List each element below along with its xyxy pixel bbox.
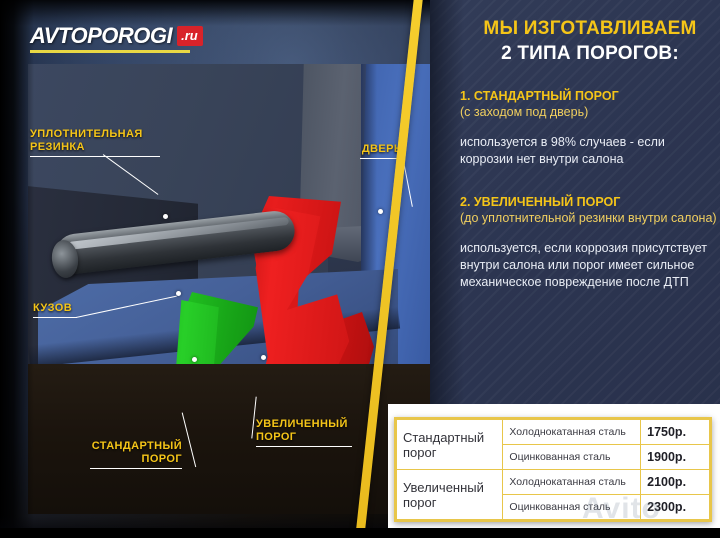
cell-price: 2300р. (641, 495, 710, 520)
label-extended-sill: УВЕЛИЧЕННЫЙ ПОРОГ (256, 418, 352, 447)
cell-material: Холоднокатанная сталь (503, 420, 641, 445)
price-table: Стандартный порог Холоднокатанная сталь … (394, 417, 712, 522)
page-title-line2: 2 ТИПА ПОРОГОВ: (460, 41, 720, 66)
bottom-bar (0, 528, 720, 538)
table-row: Стандартный порог Холоднокатанная сталь … (397, 420, 710, 445)
price-table-body: Стандартный порог Холоднокатанная сталь … (397, 420, 710, 520)
label-rubber-seal-line1: УПЛОТНИТЕЛЬНАЯ (30, 128, 143, 140)
label-extended-sill-line2: ПОРОГ (256, 431, 296, 443)
label-rubber-seal: УПЛОТНИТЕЛЬНАЯ РЕЗИНКА (30, 128, 160, 157)
label-rubber-seal-line2: РЕЗИНКА (30, 141, 85, 153)
logo[interactable]: AVTOPOROGI .ru (30, 23, 203, 53)
section-extended-heading: 2. УВЕЛИЧЕННЫЙ ПОРОГ (460, 194, 720, 210)
cell-price: 1750р. (641, 420, 710, 445)
section-extended-body: используется, если коррозия присутствует… (460, 240, 720, 291)
label-extended-sill-line1: УВЕЛИЧЕННЫЙ (256, 418, 348, 430)
leader-dot-door (378, 209, 383, 214)
section-extended: 2. УВЕЛИЧЕННЫЙ ПОРОГ (до уплотнительной … (460, 194, 720, 291)
cell-price: 1900р. (641, 445, 710, 470)
section-standard: 1. СТАНДАРТНЫЙ ПОРОГ (с заходом под двер… (460, 88, 720, 168)
section-standard-subheading: (с заходом под дверь) (460, 104, 720, 120)
section-standard-body: используется в 98% случаев - если корроз… (460, 134, 720, 168)
section-extended-subheading: (до уплотнительной резинки внутри салона… (460, 210, 720, 226)
section-standard-heading: 1. СТАНДАРТНЫЙ ПОРОГ (460, 88, 720, 104)
table-row: Увеличенный порог Холоднокатанная сталь … (397, 470, 710, 495)
promo-banner: AVTOPOROGI .ru УПЛОТНИТЕЛЬНАЯ РЕЗИНКА ДВ… (0, 0, 720, 538)
label-standard-sill: СТАНДАРТНЫЙ ПОРОГ (90, 440, 182, 469)
label-body: КУЗОВ (33, 302, 77, 318)
leader-dot-extended (261, 355, 266, 360)
vignette-left (0, 0, 34, 538)
logo-name: AVTOPOROGI (30, 23, 172, 49)
leader-dot-standard (192, 357, 197, 362)
label-standard-sill-line1: СТАНДАРТНЫЙ (92, 440, 182, 452)
cell-price: 2100р. (641, 470, 710, 495)
leader-dot-seal (163, 214, 168, 219)
cell-type: Стандартный порог (397, 420, 503, 470)
logo-domain: .ru (177, 26, 203, 46)
cell-material: Оцинкованная сталь (503, 495, 641, 520)
cell-material: Оцинкованная сталь (503, 445, 641, 470)
cell-type: Увеличенный порог (397, 470, 503, 520)
page-title-line1: МЫ ИЗГОТАВЛИВАЕМ (460, 16, 720, 41)
logo-underline (30, 50, 190, 53)
label-standard-sill-line2: ПОРОГ (142, 453, 182, 465)
label-body-text: КУЗОВ (33, 302, 72, 314)
scene-floor (28, 364, 448, 514)
cell-material: Холоднокатанная сталь (503, 470, 641, 495)
page-title: МЫ ИЗГОТАВЛИВАЕМ 2 ТИПА ПОРОГОВ: (460, 16, 720, 66)
leader-dot-body (176, 291, 181, 296)
